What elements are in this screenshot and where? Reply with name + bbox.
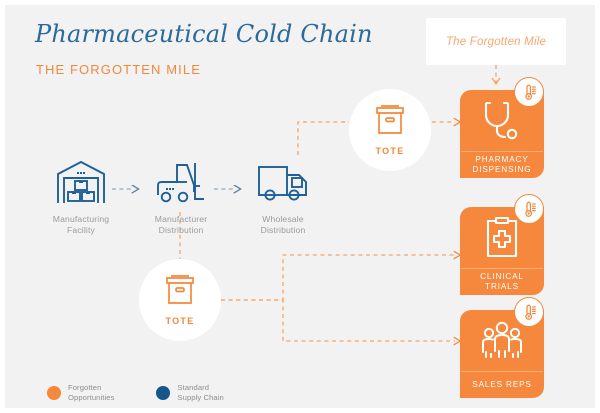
thermometer-icon — [514, 77, 544, 107]
tote-node-lower: TOTE — [139, 259, 221, 341]
destination-card-label: CLINICAL TRIALS — [460, 269, 544, 295]
sidebar-item-wholesale-distribution: Wholesale Distribution — [240, 157, 326, 236]
sidebar-item-manufacturing-facility: Manufacturing Facility — [38, 157, 124, 236]
thermometer-icon — [514, 194, 544, 224]
sidebar-item-label: Manufacturing Facility — [38, 214, 124, 236]
tote-box-icon — [373, 104, 407, 142]
forgotten-branch-sales — [221, 300, 455, 341]
warehouse-icon — [38, 157, 124, 205]
infographic-canvas: Pharmaceutical Cold Chain THE FORGOTTEN … — [0, 0, 600, 413]
legend-item-label: Standard Supply Chain — [177, 383, 223, 402]
legend-item-standard-supply-chain: Standard Supply Chain — [156, 383, 223, 402]
legend: Forgotten Opportunities Standard Supply … — [47, 383, 224, 402]
forklift-icon — [138, 157, 224, 205]
legend-item-label: Forgotten Opportunities — [68, 383, 114, 402]
tote-box-icon — [163, 274, 197, 312]
tote-node-upper: TOTE — [349, 89, 431, 171]
truck-icon — [240, 157, 326, 205]
legend-swatch-orange-icon — [47, 386, 61, 400]
destination-card-label: PHARMACY DISPENSING — [460, 152, 544, 178]
legend-item-forgotten-opportunities: Forgotten Opportunities — [47, 383, 114, 402]
tote-label: TOTE — [375, 146, 404, 156]
forgotten-branch-clinical — [221, 255, 455, 300]
sidebar-item-label: Manufacturer Distribution — [138, 214, 224, 236]
sidebar-item-manufacturer-distribution: Manufacturer Distribution — [138, 157, 224, 236]
tote-label: TOTE — [165, 316, 194, 326]
forgotten-branch-up — [298, 122, 349, 155]
destination-card-label: SALES REPS — [460, 372, 544, 398]
legend-swatch-blue-icon — [156, 386, 170, 400]
thermometer-icon — [514, 297, 544, 327]
sidebar-item-label: Wholesale Distribution — [240, 214, 326, 236]
